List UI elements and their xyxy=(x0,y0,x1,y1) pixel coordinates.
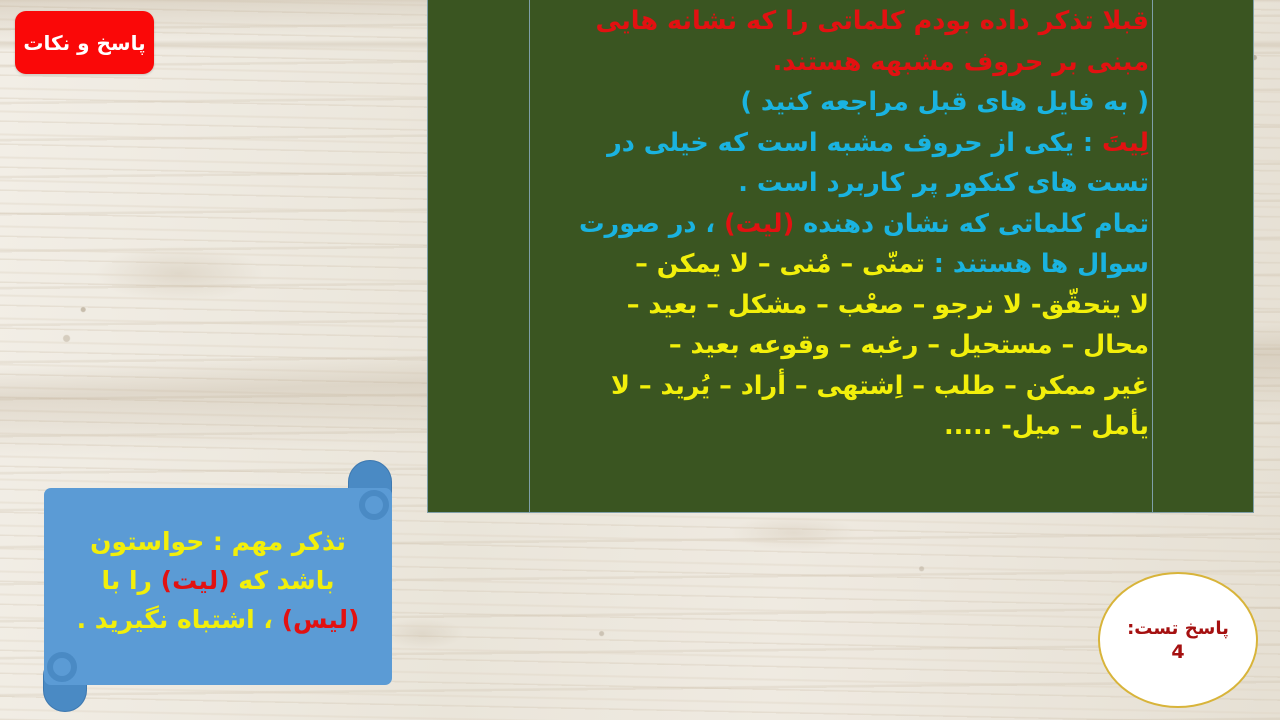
panel-divider-right xyxy=(1152,0,1153,512)
scroll-line-2-segment-2: (لیت) xyxy=(161,566,230,595)
line-7-segment-2: تمنّی – مُنی – لا یمکن – xyxy=(635,249,925,279)
scroll-line-2: باشد که (لیت) را با xyxy=(55,561,381,600)
important-note-text: تذکر مهم : حواستونباشد که (لیت) را با(لی… xyxy=(55,522,381,639)
lesson-text-block: قبلا تذکر داده بودم کلماتی را که نشانه ه… xyxy=(532,1,1149,447)
important-note-scroll: تذکر مهم : حواستونباشد که (لیت) را با(لی… xyxy=(37,460,399,712)
line-11: یأمل – میل- ..... xyxy=(532,406,1149,447)
scroll-line-3: (لیس) ، اشتباه نگیرید . xyxy=(55,600,381,639)
line-9: محال – مستحیل – رغبه – وقوعه بعید – xyxy=(532,325,1149,366)
answer-and-notes-label: پاسخ و نکات xyxy=(23,33,145,53)
line-6-segment-3: ، در صورت xyxy=(579,209,724,239)
test-answer-value: 4 xyxy=(1171,641,1184,663)
line-6: تمام کلماتی که نشان دهنده (لیت) ، در صور… xyxy=(532,204,1149,245)
line-6-segment-2: (لیت) xyxy=(724,209,794,239)
scroll-loop-top-right xyxy=(359,490,389,520)
scroll-line-2-segment-1: باشد که xyxy=(230,566,335,595)
line-3: ( به فایل های قبل مراجعه کنید ) xyxy=(532,82,1149,123)
line-4: لِیتَ : یکی از حروف مشبه است که خیلی در xyxy=(532,123,1149,164)
line-1: قبلا تذکر داده بودم کلماتی را که نشانه ه… xyxy=(532,1,1149,42)
answer-and-notes-button[interactable]: پاسخ و نکات xyxy=(15,11,154,74)
content-panel: قبلا تذکر داده بودم کلماتی را که نشانه ه… xyxy=(427,0,1254,513)
scroll-loop-bottom-left xyxy=(47,652,77,682)
line-4-segment-2: : یکی از حروف مشبه است که خیلی در xyxy=(607,128,1102,158)
line-6-segment-1: تمام کلماتی که نشان دهنده xyxy=(794,209,1149,239)
line-10: غیر ممکن – طلب – اِشتهی – أراد – یُرید –… xyxy=(532,366,1149,407)
line-7-segment-1: سوال ها هستند : xyxy=(925,249,1149,279)
test-answer-label: پاسخ تست: xyxy=(1127,617,1229,641)
line-4-segment-1: لِیتَ xyxy=(1102,128,1149,158)
scroll-line-3-segment-2: ، اشتباه نگیرید . xyxy=(77,605,282,634)
scroll-line-3-segment-1: (لیس) xyxy=(282,605,360,634)
scroll-line-2-segment-3: را با xyxy=(102,566,161,595)
line-8: لا یتحقّق- لا نرجو – صعْب – مشکل – بعید … xyxy=(532,285,1149,326)
test-answer-badge: پاسخ تست: 4 xyxy=(1098,572,1258,708)
panel-divider-left xyxy=(529,0,530,512)
scroll-line-1: تذکر مهم : حواستون xyxy=(55,522,381,561)
line-5: تست های کنکور پر کاربرد است . xyxy=(532,163,1149,204)
line-7: سوال ها هستند : تمنّی – مُنی – لا یمکن – xyxy=(532,244,1149,285)
line-2: مبنی بر حروف مشبهه هستند. xyxy=(532,42,1149,83)
